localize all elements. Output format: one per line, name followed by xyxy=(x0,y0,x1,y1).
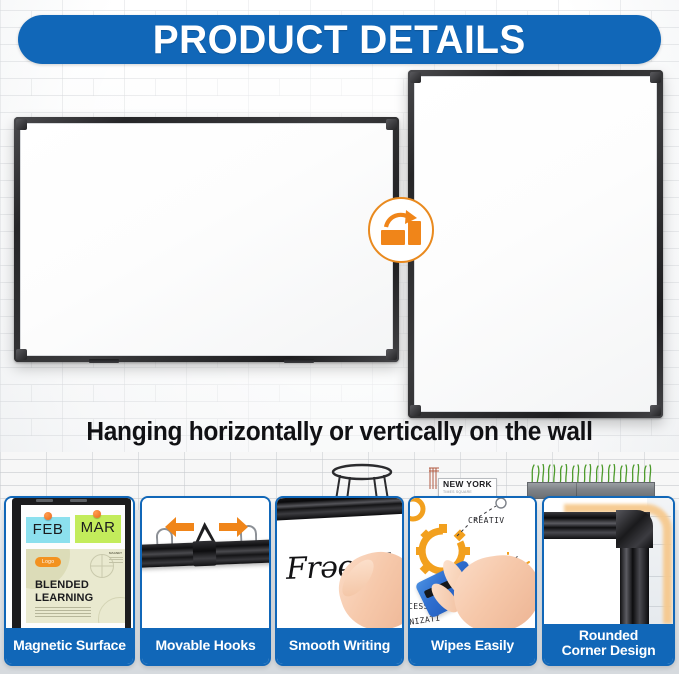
corner-bracket xyxy=(650,72,661,83)
panel-artwork: CREATIV IDEA LOPING CESS ANIZATI xyxy=(410,498,535,628)
board-frame-edge xyxy=(277,498,402,521)
page-title: PRODUCT DETAILS xyxy=(153,20,526,60)
poster-side-caption: MAGNET xyxy=(109,551,123,563)
corner-bracket xyxy=(410,405,421,416)
hook-tab xyxy=(36,499,53,502)
hook-slider-block xyxy=(193,541,217,567)
sign-subtext: TIMES SQUARE xyxy=(443,490,492,494)
new-york-sign: NEW YORK TIMES SQUARE xyxy=(438,478,497,497)
handwritten-word-creativ: CREATIV xyxy=(468,516,505,525)
magnet-icon xyxy=(93,510,101,518)
panel-label-rounded-corner: Rounded Corner Design xyxy=(544,624,673,664)
poster-body-text-lines xyxy=(35,607,91,619)
feature-panel-row: FEB MAR Logo BLENDED LEARNING xyxy=(0,496,679,666)
magnet-icon xyxy=(44,512,52,520)
rotate-orientation-icon xyxy=(368,197,434,263)
hero-headline: Hanging horizontally or vertically on th… xyxy=(14,418,666,447)
panel-label-wipes-easily: Wipes Easily xyxy=(410,628,535,664)
feature-panel-movable-hooks[interactable]: Movable Hooks xyxy=(140,496,271,666)
corner-bracket xyxy=(16,119,27,130)
vertical-whiteboard xyxy=(408,70,663,418)
sticky-note-feb: FEB xyxy=(26,517,70,543)
poster-logo-badge: Logo xyxy=(35,557,61,567)
corner-bracket xyxy=(386,119,397,130)
panel-artwork xyxy=(142,498,269,628)
grass-icon xyxy=(529,464,653,484)
hook-tab xyxy=(89,359,119,363)
arrow-left-icon xyxy=(165,516,195,538)
feature-panel-magnetic-surface[interactable]: FEB MAR Logo BLENDED LEARNING xyxy=(4,496,135,666)
hook-tab xyxy=(70,499,87,502)
feature-panel-rounded-corner[interactable]: Rounded Corner Design xyxy=(542,496,675,666)
panel-artwork: Frəend xyxy=(277,498,402,628)
corner-bracket xyxy=(410,72,421,83)
corner-bracket xyxy=(650,405,661,416)
whiteboard-writing-surface xyxy=(414,76,657,412)
frame-vertical-profile xyxy=(620,536,649,624)
corner-bracket xyxy=(16,349,27,360)
hook-tab xyxy=(284,359,314,363)
grass-planter xyxy=(527,467,655,499)
panel-label-movable-hooks: Movable Hooks xyxy=(142,628,269,664)
poster-title: BLENDED LEARNING xyxy=(35,579,93,604)
panel-artwork: FEB MAR Logo BLENDED LEARNING xyxy=(6,498,133,628)
mini-whiteboard-surface: FEB MAR Logo BLENDED LEARNING xyxy=(21,505,125,628)
panel-label-smooth-writing: Smooth Writing xyxy=(277,628,402,664)
poster-side-label-1: MAGNET xyxy=(109,551,123,555)
corner-bracket xyxy=(386,349,397,360)
feature-panel-wipes-easily[interactable]: CREATIV IDEA LOPING CESS ANIZATI Wipes E… xyxy=(408,496,537,666)
panel-label-magnetic-surface: Magnetic Surface xyxy=(6,628,133,664)
product-details-banner: PRODUCT DETAILS xyxy=(18,15,661,64)
mini-whiteboard: FEB MAR Logo BLENDED LEARNING xyxy=(12,498,131,628)
panel-artwork xyxy=(544,498,673,624)
product-details-page: PRODUCT DETAILS Hanging horizontally or … xyxy=(0,0,679,674)
poster-corner-decoration xyxy=(98,597,125,623)
whiteboard-writing-surface xyxy=(20,123,393,356)
feature-panel-smooth-writing[interactable]: Frəend Smooth Writing xyxy=(275,496,404,666)
horizontal-whiteboard xyxy=(14,117,399,362)
rounded-corner-bracket xyxy=(616,510,653,548)
arrow-right-icon xyxy=(218,516,248,538)
sticky-note-mar: MAR xyxy=(75,515,121,543)
